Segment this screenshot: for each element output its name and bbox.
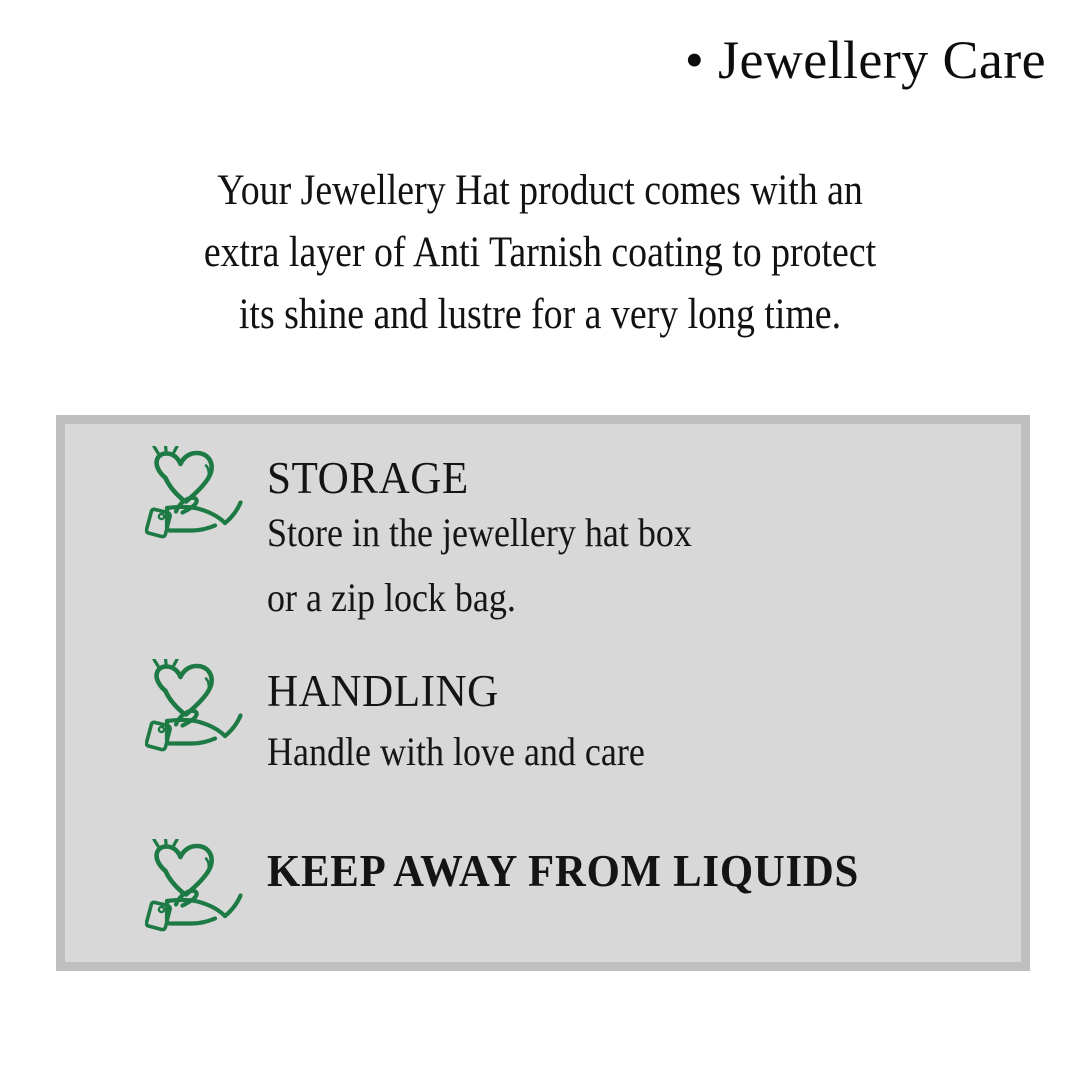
care-instruction-list: STORAGE Store in the jewellery hat box o… [65, 424, 1021, 962]
care-item-text: KEEP AWAY FROM LIQUIDS [267, 839, 904, 897]
care-item-keep-away-from-liquids: KEEP AWAY FROM LIQUIDS [145, 839, 904, 935]
care-item-text: HANDLING Handle with love and care [267, 659, 687, 781]
heart-in-hand-icon [145, 839, 247, 935]
heart-in-hand-icon [145, 446, 247, 542]
care-item-line-1: Handle with love and care [267, 723, 645, 781]
care-item-line-1: Store in the jewellery hat box [267, 504, 692, 562]
intro-line-1: Your Jewellery Hat product comes with an [126, 160, 953, 222]
care-item-heading: STORAGE [267, 452, 720, 504]
intro-line-3: its shine and lustre for a very long tim… [126, 284, 953, 346]
care-item-line-2: or a zip lock bag. [267, 562, 692, 634]
care-item-storage: STORAGE Store in the jewellery hat box o… [145, 446, 739, 634]
page-title: • Jewellery Care [0, 32, 1046, 89]
jewellery-care-page: • Jewellery Care Your Jewellery Hat prod… [0, 0, 1080, 1080]
intro-line-2: extra layer of Anti Tarnish coating to p… [126, 222, 953, 284]
intro-paragraph: Your Jewellery Hat product comes with an… [70, 160, 1010, 346]
care-instructions-panel: STORAGE Store in the jewellery hat box o… [56, 415, 1030, 971]
care-item-heading: HANDLING [267, 665, 670, 717]
care-item-heading: KEEP AWAY FROM LIQUIDS [267, 845, 859, 897]
page-title-text: • Jewellery Care [685, 32, 1046, 89]
care-item-handling: HANDLING Handle with love and care [145, 659, 687, 781]
heart-in-hand-icon [145, 659, 247, 755]
care-item-text: STORAGE Store in the jewellery hat box o… [267, 446, 739, 634]
